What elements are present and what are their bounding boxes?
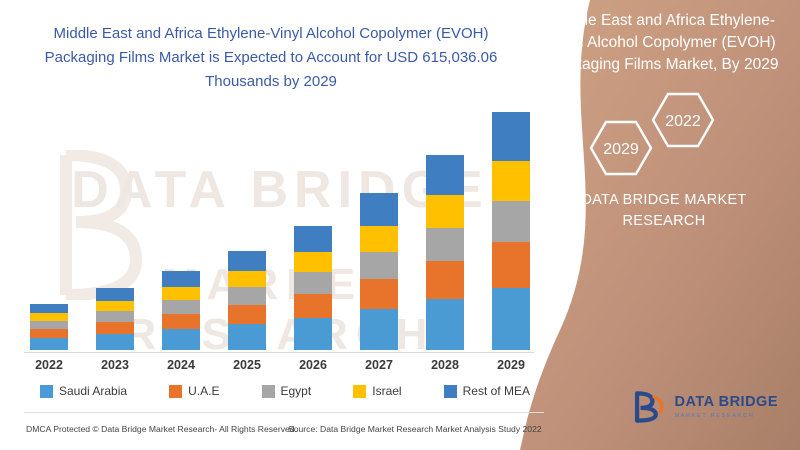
bar-segment bbox=[30, 313, 68, 321]
chart-legend: Saudi ArabiaU.A.EEgyptIsraelRest of MEA bbox=[40, 384, 530, 398]
bar-column bbox=[162, 100, 200, 350]
hexagon-badges: 2022 2029 bbox=[572, 88, 752, 180]
x-axis-label: 2022 bbox=[30, 358, 68, 372]
svg-text:2022: 2022 bbox=[665, 113, 701, 130]
bar-segment bbox=[228, 251, 266, 272]
x-axis-label: 2029 bbox=[492, 358, 530, 372]
panel-brand-line-1: DATA BRIDGE MARKET bbox=[542, 190, 786, 211]
dbmr-mark-icon bbox=[632, 390, 666, 424]
x-axis-label: 2023 bbox=[96, 358, 134, 372]
x-axis-label: 2027 bbox=[360, 358, 398, 372]
bar-column bbox=[360, 100, 398, 350]
dbmr-sub: MARKET RESEARCH bbox=[674, 413, 778, 419]
legend-item[interactable]: Saudi Arabia bbox=[40, 384, 127, 398]
right-side-panel: Middle East and Africa Ethylene-Vinyl Al… bbox=[520, 0, 800, 450]
bar-segment bbox=[360, 309, 398, 350]
x-axis-labels: 20222023202420252026202720282029 bbox=[30, 358, 530, 372]
bar-segment bbox=[228, 305, 266, 324]
dbmr-wordmark: DATA BRIDGE MARKET RESEARCH bbox=[674, 395, 778, 419]
legend-label: Saudi Arabia bbox=[59, 384, 127, 398]
legend-label: U.A.E bbox=[188, 384, 219, 398]
bar-segment bbox=[294, 318, 332, 350]
footer-copyright: DMCA Protected © Data Bridge Market Rese… bbox=[26, 424, 297, 434]
page-title: Middle East and Africa Ethylene-Vinyl Al… bbox=[36, 22, 506, 94]
bar-segment bbox=[96, 301, 134, 311]
panel-brand: DATA BRIDGE MARKET RESEARCH bbox=[542, 190, 786, 232]
legend-label: Egypt bbox=[281, 384, 312, 398]
bar-segment bbox=[96, 322, 134, 334]
legend-swatch bbox=[262, 385, 275, 398]
chart-bars bbox=[30, 100, 530, 350]
bar-segment bbox=[30, 329, 68, 338]
bar-segment bbox=[228, 271, 266, 287]
legend-item[interactable]: Egypt bbox=[262, 384, 312, 398]
bar-segment bbox=[162, 287, 200, 300]
dbmr-name: DATA BRIDGE bbox=[674, 395, 778, 411]
legend-item[interactable]: Rest of MEA bbox=[444, 384, 530, 398]
bar-segment bbox=[426, 228, 464, 262]
slide-canvas: DATA BRIDGE MARKET RESEARCH Middle East … bbox=[0, 0, 800, 450]
bar-segment bbox=[426, 299, 464, 350]
bar-segment bbox=[228, 287, 266, 304]
bar-segment bbox=[162, 314, 200, 329]
bar-segment bbox=[162, 300, 200, 314]
panel-title: Middle East and Africa Ethylene-Vinyl Al… bbox=[540, 10, 786, 76]
bar-segment bbox=[294, 226, 332, 252]
bar-segment bbox=[492, 161, 530, 201]
bar-segment bbox=[294, 294, 332, 318]
bar-column bbox=[294, 100, 332, 350]
bar-column bbox=[426, 100, 464, 350]
bar-segment bbox=[30, 304, 68, 314]
footer-divider bbox=[24, 412, 544, 413]
bar-segment bbox=[360, 252, 398, 279]
bar-column bbox=[228, 100, 266, 350]
bar-segment bbox=[492, 288, 530, 350]
bar-segment bbox=[162, 271, 200, 287]
legend-swatch bbox=[169, 385, 182, 398]
x-axis-label: 2028 bbox=[426, 358, 464, 372]
bar-segment bbox=[492, 242, 530, 289]
bar-segment bbox=[426, 155, 464, 195]
bar-segment bbox=[294, 272, 332, 294]
legend-label: Israel bbox=[372, 384, 401, 398]
svg-text:2029: 2029 bbox=[603, 141, 639, 158]
stacked-bar-chart bbox=[30, 100, 530, 350]
bar-segment bbox=[162, 329, 200, 350]
legend-swatch bbox=[40, 385, 53, 398]
dbmr-logo: DATA BRIDGE MARKET RESEARCH bbox=[632, 390, 778, 424]
bar-segment bbox=[492, 112, 530, 161]
legend-swatch bbox=[444, 385, 457, 398]
bar-segment bbox=[426, 195, 464, 227]
x-axis-label: 2024 bbox=[162, 358, 200, 372]
bar-segment bbox=[30, 338, 68, 350]
bar-segment bbox=[360, 226, 398, 252]
legend-swatch bbox=[353, 385, 366, 398]
bar-segment bbox=[96, 334, 134, 350]
footer-source: Source: Data Bridge Market Research Mark… bbox=[288, 424, 542, 434]
legend-label: Rest of MEA bbox=[463, 384, 530, 398]
legend-item[interactable]: Israel bbox=[353, 384, 401, 398]
bar-segment bbox=[426, 261, 464, 299]
x-axis-label: 2025 bbox=[228, 358, 266, 372]
bar-segment bbox=[360, 193, 398, 225]
bar-segment bbox=[96, 311, 134, 322]
bar-segment bbox=[294, 252, 332, 273]
bar-column bbox=[30, 100, 68, 350]
panel-content: Middle East and Africa Ethylene-Vinyl Al… bbox=[520, 0, 800, 450]
bar-segment bbox=[30, 321, 68, 330]
hexagon-icon: 2022 2029 bbox=[572, 88, 752, 180]
panel-brand-line-2: RESEARCH bbox=[542, 211, 786, 232]
bar-segment bbox=[96, 288, 134, 301]
bar-column bbox=[96, 100, 134, 350]
x-axis-label: 2026 bbox=[294, 358, 332, 372]
bar-segment bbox=[228, 324, 266, 350]
x-axis-line bbox=[24, 352, 534, 353]
bar-column bbox=[492, 100, 530, 350]
bar-segment bbox=[360, 279, 398, 309]
bar-segment bbox=[492, 201, 530, 242]
legend-item[interactable]: U.A.E bbox=[169, 384, 219, 398]
